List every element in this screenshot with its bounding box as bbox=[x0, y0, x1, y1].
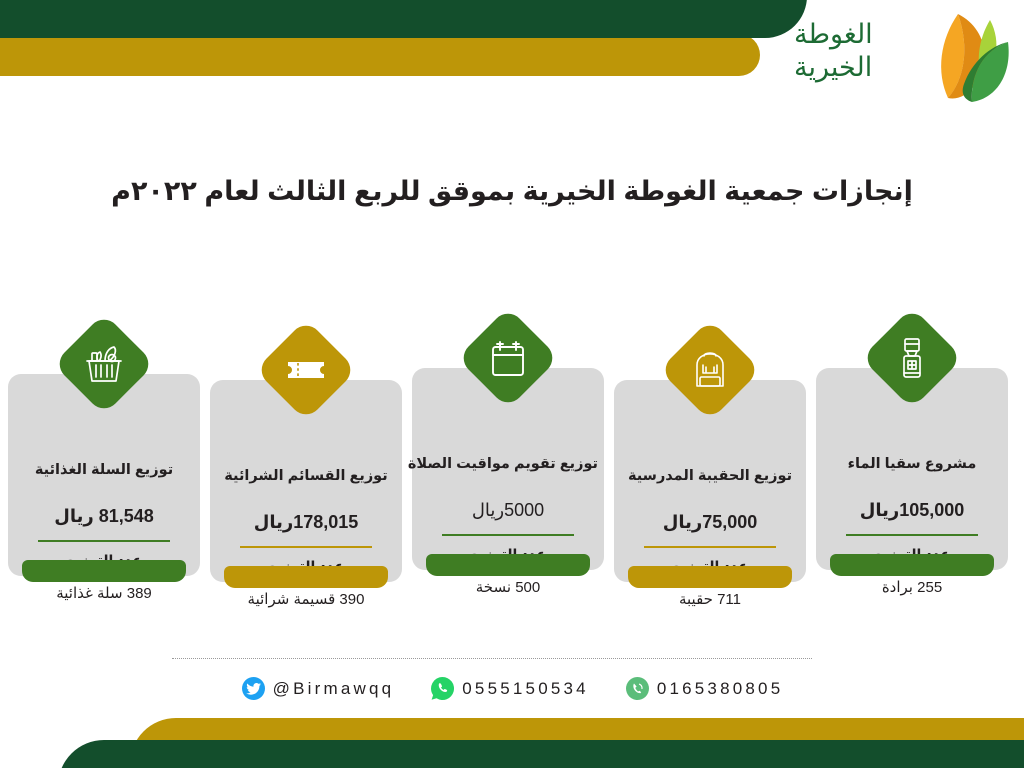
card-title: مشروع سقيا الماء bbox=[822, 456, 1002, 472]
card-bottom-tab bbox=[224, 566, 388, 588]
logo-line-2: الخيرية bbox=[794, 51, 924, 84]
header-green-bar bbox=[0, 0, 807, 38]
twitter-handle: @Birmawqq bbox=[273, 679, 395, 699]
card-title: توزيع الحقيبة المدرسية bbox=[620, 468, 800, 484]
card-amount: 178,015ريال bbox=[216, 512, 396, 533]
logo-line-1: الغوطة bbox=[794, 18, 924, 51]
card-divider bbox=[644, 546, 776, 548]
logo-wordmark: الغوطة الخيرية bbox=[794, 18, 924, 84]
stats-card-row: توزيع السلة الغذائية 81,548 ريال عدد الت… bbox=[8, 282, 1016, 572]
card-count: 390 قسيمة شرائية bbox=[216, 590, 396, 608]
card-count: 255 برادة bbox=[822, 578, 1002, 596]
card-divider bbox=[240, 546, 372, 548]
water-cooler-icon bbox=[889, 335, 935, 381]
voucher-ticket-icon bbox=[283, 347, 329, 393]
header-gold-bar bbox=[0, 34, 760, 76]
contact-phone[interactable]: 0165380805 bbox=[625, 676, 784, 701]
card-divider bbox=[38, 540, 170, 542]
card-count: 500 نسخة bbox=[418, 578, 598, 596]
backpack-icon bbox=[687, 347, 733, 393]
page-title: إنجازات جمعية الغوطة الخيرية بموقق للربع… bbox=[0, 176, 1024, 207]
calendar-icon bbox=[485, 335, 531, 381]
card-title: توزيع القسائم الشرائية bbox=[216, 468, 396, 484]
card-amount: 75,000ريال bbox=[620, 512, 800, 533]
brand-logo: الغوطة الخيرية bbox=[786, 4, 1016, 116]
card-bottom-tab bbox=[830, 554, 994, 576]
card-bottom-tab bbox=[22, 560, 186, 582]
footer-green-bar bbox=[58, 740, 1024, 768]
card-title: توزيع السلة الغذائية bbox=[14, 462, 194, 478]
infographic-page: الغوطة الخيرية إنجازات جمعية الغوطة الخي… bbox=[0, 0, 1024, 768]
phone-number: 0165380805 bbox=[657, 679, 784, 699]
whatsapp-number: 0555150534 bbox=[462, 679, 589, 699]
footer-divider bbox=[172, 658, 812, 659]
contact-whatsapp[interactable]: 0555150534 bbox=[430, 676, 589, 701]
card-amount: 5000ريال bbox=[418, 500, 598, 521]
contact-twitter[interactable]: @Birmawqq bbox=[241, 676, 395, 701]
logo-leaf-mark bbox=[920, 6, 1012, 114]
card-title: توزيع تقويم مواقيت الصلاة bbox=[418, 456, 598, 472]
card-bottom-tab bbox=[628, 566, 792, 588]
card-divider bbox=[846, 534, 978, 536]
card-bottom-tab bbox=[426, 554, 590, 576]
card-count: 389 سلة غذائية bbox=[14, 584, 194, 602]
whatsapp-icon bbox=[430, 676, 455, 701]
card-amount: 105,000ريال bbox=[822, 500, 1002, 521]
contact-bar: 0165380805 0555150534 @Birmawqq bbox=[0, 676, 1024, 701]
grocery-basket-icon bbox=[81, 341, 127, 387]
phone-icon bbox=[625, 676, 650, 701]
twitter-icon bbox=[241, 676, 266, 701]
card-count: 711 حقيبة bbox=[620, 590, 800, 608]
card-divider bbox=[442, 534, 574, 536]
card-amount: 81,548 ريال bbox=[14, 506, 194, 527]
